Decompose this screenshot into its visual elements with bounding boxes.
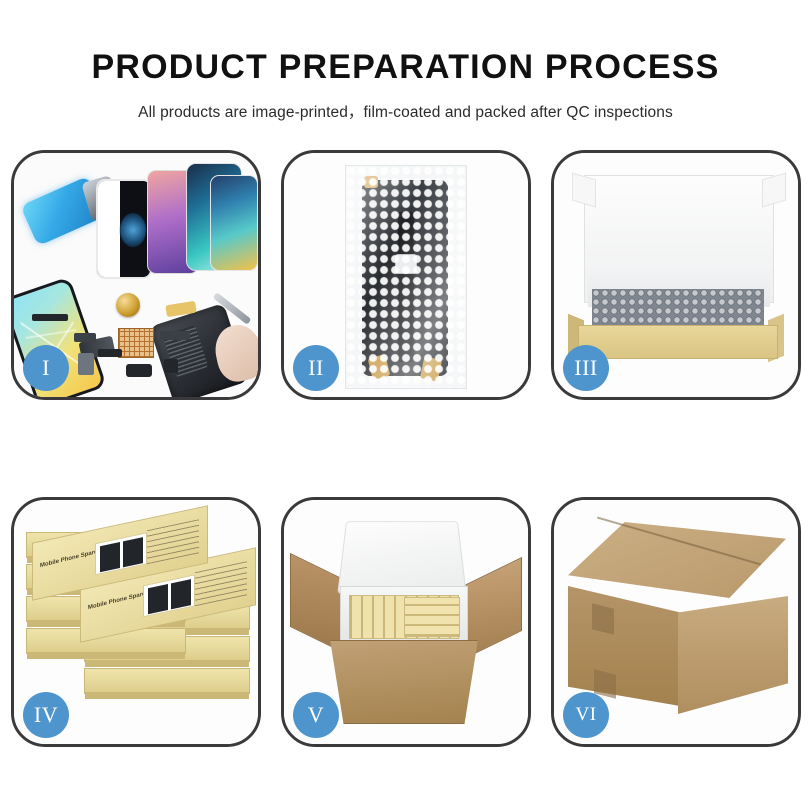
box-product-photo xyxy=(143,574,195,617)
phone-gold-icon xyxy=(210,175,258,271)
step-card-1[interactable]: I xyxy=(11,150,261,400)
step-card-4[interactable]: Mobile Phone Spare Parts Mobile Phone Sp… xyxy=(11,497,261,747)
component-chip-icon xyxy=(32,314,68,321)
header: PRODUCT PREPARATION PROCESS All products… xyxy=(0,0,811,122)
process-steps-grid: I II xyxy=(11,150,800,747)
step-card-6[interactable]: VI xyxy=(551,497,801,747)
step-badge-5: V xyxy=(293,692,339,738)
tape-strip-icon xyxy=(592,603,614,634)
page-title: PRODUCT PREPARATION PROCESS xyxy=(0,48,811,87)
box-front-panel xyxy=(578,325,778,359)
step-badge-3: III xyxy=(563,345,609,391)
packed-boxes-icon xyxy=(404,597,460,637)
sim-tray-icon xyxy=(78,353,94,375)
box-product-photo xyxy=(95,532,147,575)
component-chip-icon xyxy=(160,331,190,340)
foam-lid-icon xyxy=(337,521,466,594)
copper-mesh-icon xyxy=(118,328,154,358)
plastic-sheen xyxy=(346,166,466,388)
step-badge-4: IV xyxy=(23,692,69,738)
box-spec-lines xyxy=(195,561,247,606)
component-chip-icon xyxy=(164,359,178,373)
step-card-5[interactable]: V xyxy=(281,497,531,747)
foam-box-icon xyxy=(340,586,468,648)
step-card-3[interactable]: III xyxy=(551,150,801,400)
bubble-wrapped-contents-icon xyxy=(592,289,764,329)
carton-body xyxy=(320,640,488,724)
carton-left-panel xyxy=(568,586,680,706)
step-badge-1: I xyxy=(23,345,69,391)
page-subtitle: All products are image-printed，film-coat… xyxy=(0,100,811,122)
phone-adhesive-film-icon xyxy=(20,176,105,246)
product-preparation-infographic: PRODUCT PREPARATION PROCESS All products… xyxy=(0,0,811,811)
step-badge-2: II xyxy=(293,345,339,391)
box-layer xyxy=(84,668,250,694)
box-spec-lines xyxy=(147,519,199,564)
carton-right-panel xyxy=(678,596,788,714)
step-card-2[interactable]: II xyxy=(281,150,531,400)
camera-module-icon xyxy=(126,364,152,377)
phone-screen-black-icon xyxy=(96,179,152,279)
bubble-wrap-bag-icon xyxy=(345,165,467,389)
component-chip-icon xyxy=(74,333,96,342)
speaker-coil-icon xyxy=(116,293,140,317)
component-chip-icon xyxy=(98,349,122,357)
carton-top-panel xyxy=(568,522,786,598)
step-badge-6: VI xyxy=(563,692,609,738)
